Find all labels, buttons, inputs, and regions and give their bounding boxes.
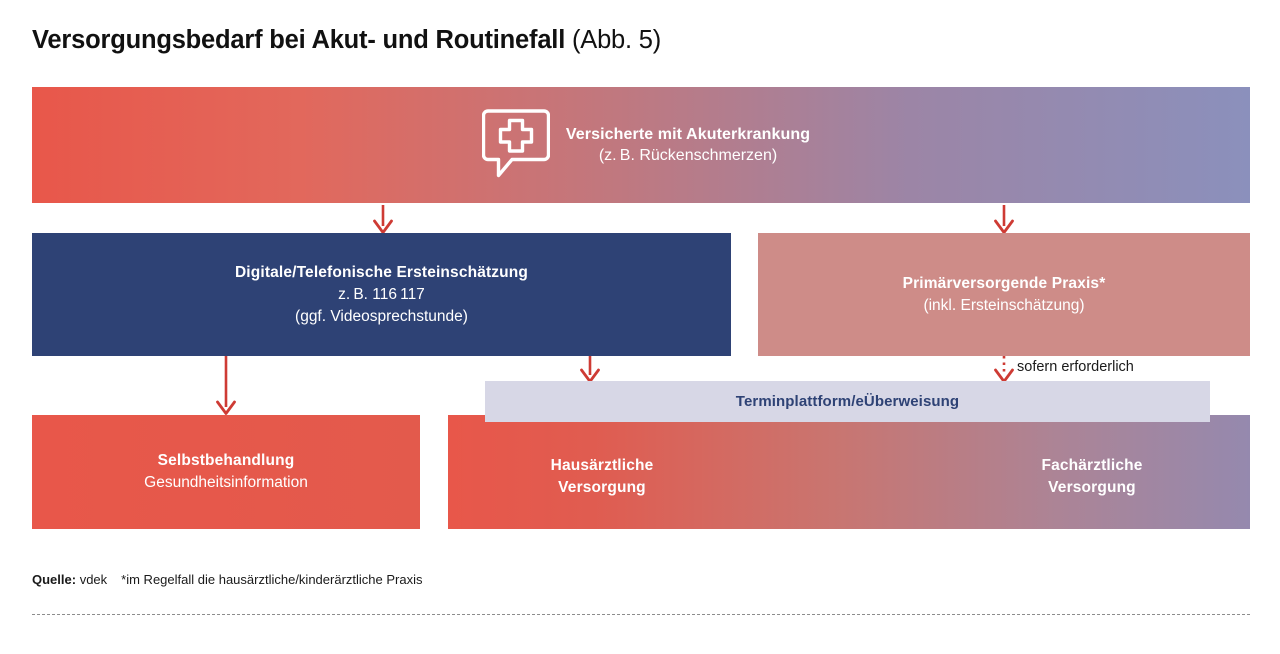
page-title-suffix: (Abb. 5) [565, 26, 661, 54]
node-fachaerztliche-line-2: Versorgung [982, 477, 1202, 499]
source-line: Quelle: vdek*im Regelfall die hausärztli… [32, 572, 422, 587]
node-praxis-line-1: Primärversorgende Praxis* [903, 273, 1106, 295]
node-praxis-line-2: (inkl. Ersteinschätzung) [903, 295, 1106, 317]
arrow-digital-to-selbstbehandlung [210, 356, 242, 416]
node-primaerversorgende-praxis[interactable]: Primärversorgende Praxis* (inkl. Erstein… [758, 233, 1250, 356]
source-label: Quelle: [32, 572, 76, 587]
node-fachaerztliche-versorgung: Fachärztliche Versorgung [982, 455, 1202, 499]
node-selbstbehandlung-text: Selbstbehandlung Gesundheitsinformation [144, 450, 308, 494]
conditional-arrow-label: sofern erforderlich [1017, 359, 1134, 375]
node-versorgung-inner: Hausärztliche Versorgung Fachärztliche V… [448, 415, 1250, 529]
speech-bubble-medical-cross-icon [482, 107, 550, 179]
node-digitale-text: Digitale/Telefonische Ersteinschätzung z… [235, 262, 528, 328]
node-terminplattform-label: Terminplattform/eÜberweisung [736, 393, 959, 410]
node-versorgung-gradient[interactable]: Hausärztliche Versorgung Fachärztliche V… [448, 415, 1250, 529]
node-selbstbehandlung-line-1: Selbstbehandlung [144, 450, 308, 472]
banner-insured-acute: Versicherte mit Akuterkrankung (z. B. Rü… [32, 87, 1250, 203]
arrow-conditional-praxis-to-terminplattform [988, 356, 1020, 384]
arrow-digital-to-terminplattform [574, 356, 606, 384]
arrow-banner-to-praxis [988, 203, 1020, 235]
node-terminplattform[interactable]: Terminplattform/eÜberweisung [485, 381, 1210, 422]
node-hausaerztliche-line-2: Versorgung [492, 477, 712, 499]
page-title: Versorgungsbedarf bei Akut- und Routinef… [32, 26, 661, 55]
source-value: vdek [80, 572, 107, 587]
banner-line-1: Versicherte mit Akuterkrankung [566, 124, 810, 145]
node-digitale-line-1: Digitale/Telefonische Ersteinschätzung [235, 262, 528, 284]
arrow-banner-to-digital [367, 203, 399, 235]
node-hausaerztliche-versorgung: Hausärztliche Versorgung [492, 455, 712, 499]
node-digitale-line-3: (ggf. Videosprechstunde) [235, 306, 528, 328]
node-digitale-ersteinschaetzung[interactable]: Digitale/Telefonische Ersteinschätzung z… [32, 233, 731, 356]
node-praxis-text: Primärversorgende Praxis* (inkl. Erstein… [903, 273, 1106, 317]
page-title-main: Versorgungsbedarf bei Akut- und Routinef… [32, 26, 565, 54]
banner-content: Versicherte mit Akuterkrankung (z. B. Rü… [32, 87, 1250, 203]
node-fachaerztliche-line-1: Fachärztliche [982, 455, 1202, 477]
node-hausaerztliche-line-1: Hausärztliche [492, 455, 712, 477]
banner-text: Versicherte mit Akuterkrankung (z. B. Rü… [566, 124, 810, 166]
bottom-divider [32, 614, 1250, 615]
footnote-text: *im Regelfall die hausärztliche/kinderär… [121, 572, 422, 587]
node-selbstbehandlung[interactable]: Selbstbehandlung Gesundheitsinformation [32, 415, 420, 529]
banner-line-2: (z. B. Rückenschmerzen) [566, 145, 810, 166]
node-selbstbehandlung-line-2: Gesundheitsinformation [144, 472, 308, 494]
node-digitale-line-2: z. B. 116 117 [235, 284, 528, 306]
figure-root: Versorgungsbedarf bei Akut- und Routinef… [0, 0, 1280, 654]
